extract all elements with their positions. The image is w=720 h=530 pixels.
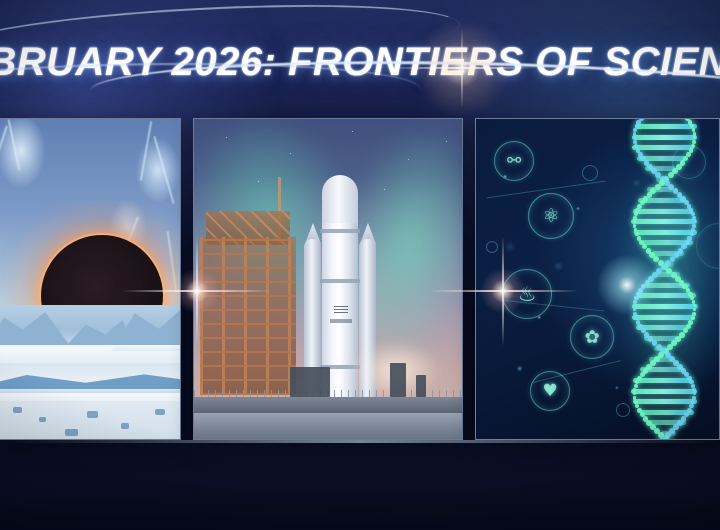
vignette: [0, 0, 720, 530]
poster-stage: FEBRUARY 2026: FRONTIERS OF SCIENCE: [0, 0, 720, 530]
